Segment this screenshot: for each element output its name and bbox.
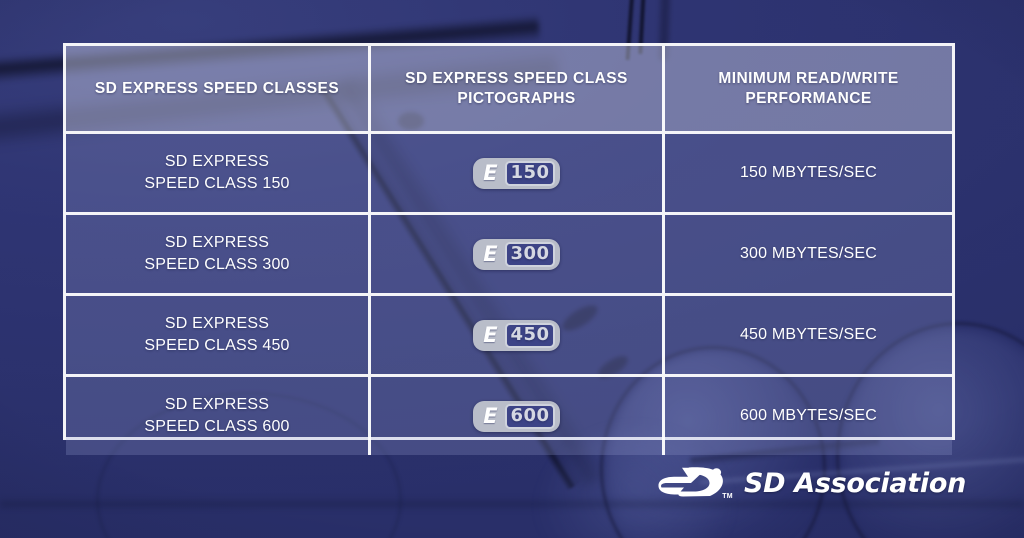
speed-class-line2: SPEED CLASS 450 [144,335,289,357]
speed-class-line1: SD EXPRESS [144,313,289,335]
performance-value: 150 MBYTES/SEC [740,162,877,184]
header-label-line2: PICTOGRAPHS [405,89,628,108]
cell-pictograph: E 300 [368,215,662,293]
speed-class-line1: SD EXPRESS [144,151,289,173]
sd-logo-glyph [658,466,730,500]
table-row: SD EXPRESS SPEED CLASS 450 E 450 450 MBY… [66,293,952,374]
performance-value: 450 MBYTES/SEC [740,324,877,346]
express-speed-number: 300 [505,242,554,267]
cell-pictograph: E 600 [368,377,662,455]
express-e-letter: E [477,404,502,429]
cell-performance: 300 MBYTES/SEC [662,215,952,293]
header-label-line1: SD EXPRESS SPEED CLASS [405,69,628,88]
express-speed-number: 600 [505,404,554,429]
express-speed-number: 150 [505,161,554,186]
header-label-line1: SD EXPRESS SPEED CLASSES [95,79,339,98]
sd-express-pictograph-icon: E 150 [473,158,559,189]
sd-express-pictograph-icon: E 600 [473,401,559,432]
performance-value: 600 MBYTES/SEC [740,405,877,427]
express-e-letter: E [477,242,502,267]
cell-speed-class: SD EXPRESS SPEED CLASS 450 [66,296,368,374]
trademark-symbol: TM [722,493,733,500]
cell-performance: 450 MBYTES/SEC [662,296,952,374]
speed-class-table: SD EXPRESS SPEED CLASSES SD EXPRESS SPEE… [63,43,955,440]
speed-class-line2: SPEED CLASS 150 [144,173,289,195]
header-label-line1: MINIMUM READ/WRITE [718,69,898,88]
cell-speed-class: SD EXPRESS SPEED CLASS 600 [66,377,368,455]
cell-pictograph: E 150 [368,134,662,212]
table-row: SD EXPRESS SPEED CLASS 150 E 150 150 MBY… [66,131,952,212]
table-header-row: SD EXPRESS SPEED CLASSES SD EXPRESS SPEE… [66,46,952,131]
speed-class-line1: SD EXPRESS [144,232,289,254]
express-e-letter: E [477,323,502,348]
cell-speed-class: SD EXPRESS SPEED CLASS 150 [66,134,368,212]
sd-express-pictograph-icon: E 450 [473,320,559,351]
performance-value: 300 MBYTES/SEC [740,243,877,265]
speed-class-line2: SPEED CLASS 600 [144,416,289,438]
table-row: SD EXPRESS SPEED CLASS 300 E 300 300 MBY… [66,212,952,293]
express-speed-number: 450 [505,323,554,348]
sd-logo-icon: TM [658,466,730,500]
express-e-letter: E [477,161,502,186]
cell-performance: 150 MBYTES/SEC [662,134,952,212]
speed-class-line1: SD EXPRESS [144,394,289,416]
header-cell-performance: MINIMUM READ/WRITE PERFORMANCE [662,46,952,131]
header-label-line2: PERFORMANCE [718,89,898,108]
sd-association-label: SD Association [744,468,966,499]
table-row: SD EXPRESS SPEED CLASS 600 E 600 600 MBY… [66,374,952,455]
sd-express-pictograph-icon: E 300 [473,239,559,270]
header-cell-speed-classes: SD EXPRESS SPEED CLASSES [66,46,368,131]
sd-association-branding: TM SD Association [658,466,966,500]
cell-performance: 600 MBYTES/SEC [662,377,952,455]
speed-class-line2: SPEED CLASS 300 [144,254,289,276]
cell-speed-class: SD EXPRESS SPEED CLASS 300 [66,215,368,293]
cell-pictograph: E 450 [368,296,662,374]
header-cell-pictographs: SD EXPRESS SPEED CLASS PICTOGRAPHS [368,46,662,131]
